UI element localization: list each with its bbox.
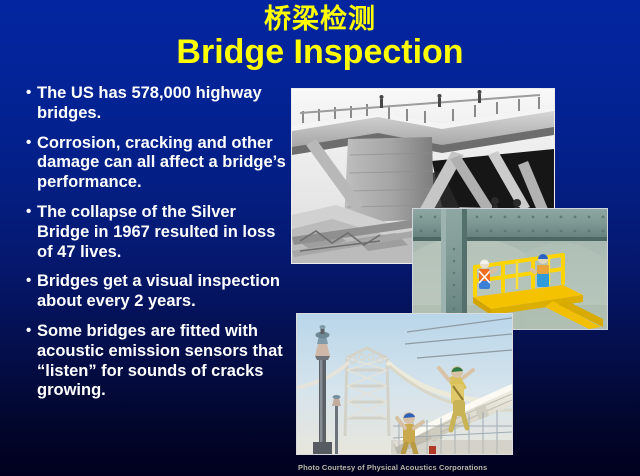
suspension-bridge-workers-photo (296, 313, 513, 455)
bullet-text: Corrosion, cracking and other damage can… (37, 134, 288, 193)
bullet-list: • The US has 578,000 highway bridges. • … (26, 84, 288, 411)
list-item: • Some bridges are fitted with acoustic … (26, 322, 288, 401)
photo-credit-caption: Photo Courtesy of Physical Acoustics Cor… (298, 463, 511, 472)
bullet-text: Some bridges are fitted with acoustic em… (37, 322, 288, 401)
list-item: • The collapse of the Silver Bridge in 1… (26, 203, 288, 262)
bullet-marker-icon: • (26, 134, 37, 193)
bullet-text: Bridges get a visual inspection about ev… (37, 272, 288, 312)
bridge-inspection-lift-photo (412, 208, 608, 330)
bullet-marker-icon: • (26, 84, 37, 124)
slide-title: 桥梁检测 Bridge Inspection (0, 2, 640, 69)
list-item: • Corrosion, cracking and other damage c… (26, 134, 288, 193)
list-item: • Bridges get a visual inspection about … (26, 272, 288, 312)
bullet-marker-icon: • (26, 203, 37, 262)
title-chinese: 桥梁检测 (0, 2, 640, 33)
title-english: Bridge Inspection (0, 35, 640, 69)
bullet-marker-icon: • (26, 322, 37, 401)
slide-canvas: 桥梁检测 Bridge Inspection • The US has 578,… (0, 0, 640, 476)
list-item: • The US has 578,000 highway bridges. (26, 84, 288, 124)
bullet-marker-icon: • (26, 272, 37, 312)
bullet-text: The collapse of the Silver Bridge in 196… (37, 203, 288, 262)
bullet-text: The US has 578,000 highway bridges. (37, 84, 288, 124)
